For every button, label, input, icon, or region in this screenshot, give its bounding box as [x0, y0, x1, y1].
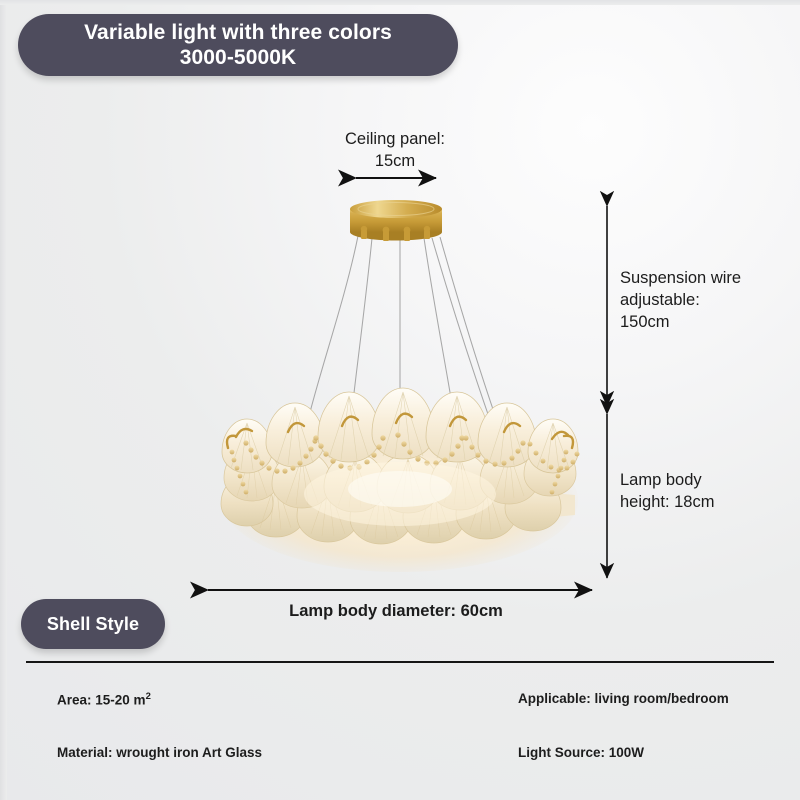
suspension-line-3: 150cm: [620, 311, 795, 333]
lamp-height-line-1: Lamp body: [620, 469, 790, 491]
suspension-wire-label: Suspension wire adjustable: 150cm: [620, 267, 795, 333]
chandelier-illustration: [0, 0, 800, 800]
title-line-1: Variable light with three colors: [84, 20, 392, 45]
spec-material: Material: wrought iron Art Glass: [57, 745, 262, 760]
ceiling-panel-line-2: 15cm: [280, 150, 510, 172]
spec-divider: [26, 661, 774, 663]
page-edge-left: [0, 0, 7, 800]
title-badge: Variable light with three colors 3000-50…: [18, 14, 458, 76]
dimension-arrows: [0, 0, 800, 800]
product-spec-page: Variable light with three colors 3000-50…: [0, 0, 800, 800]
spec-area: Area: 15-20 m2: [57, 691, 151, 708]
ceiling-canopy: [350, 200, 442, 241]
spec-applicable: Applicable: living room/bedroom: [518, 691, 729, 706]
lamp-height-label: Lamp body height: 18cm: [620, 469, 790, 513]
style-badge: Shell Style: [21, 599, 165, 649]
suspension-line-2: adjustable:: [620, 289, 795, 311]
spec-area-superscript: 2: [146, 691, 151, 702]
title-line-2: 3000-5000K: [180, 45, 297, 70]
style-badge-label: Shell Style: [47, 614, 139, 635]
suspension-line-1: Suspension wire: [620, 267, 795, 289]
lamp-height-line-2: height: 18cm: [620, 491, 790, 513]
page-edge-top: [0, 0, 800, 5]
spec-light-source: Light Source: 100W: [518, 745, 644, 760]
ceiling-panel-line-1: Ceiling panel:: [280, 128, 510, 150]
shell-shade: [221, 388, 580, 544]
spec-area-text: Area: 15-20 m: [57, 693, 146, 708]
lamp-diameter-label: Lamp body diameter: 60cm: [196, 600, 596, 622]
ceiling-panel-label: Ceiling panel: 15cm: [280, 128, 510, 172]
